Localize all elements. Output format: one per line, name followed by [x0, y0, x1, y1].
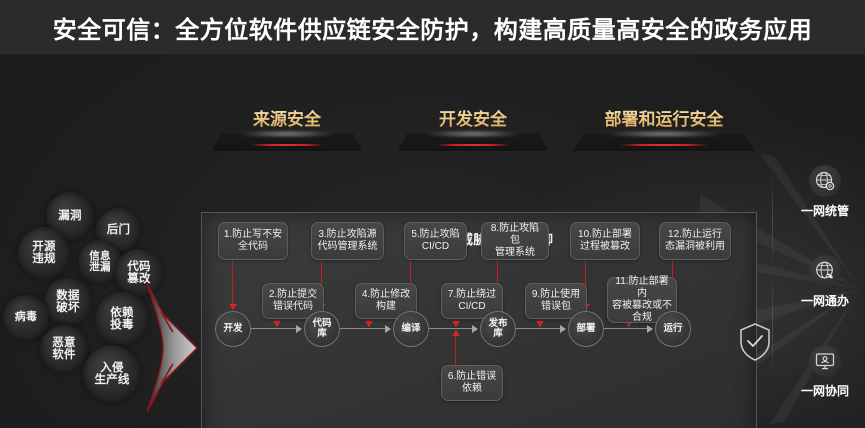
globe-gear-icon — [809, 165, 841, 197]
pipeline-node-label: 开发 — [223, 324, 242, 334]
pipeline-node[interactable]: 编译 — [393, 311, 429, 347]
shield-check-icon — [738, 322, 772, 362]
rail-item-3[interactable]: 一网协同 — [780, 345, 865, 399]
pipeline-node-label: 部署 — [576, 324, 595, 334]
pipeline-connector — [604, 328, 648, 329]
threat-bubble-label: 漏洞 — [58, 210, 81, 222]
connector-arrowhead — [536, 321, 544, 327]
rail-item-label: 一网协同 — [780, 382, 865, 399]
rail-item-label: 一网统管 — [780, 202, 865, 219]
page-title: 安全可信：全方位软件供应链安全防护，构建高质量高安全的政务应用 — [53, 10, 813, 45]
threat-bubble: 开源违规 — [18, 227, 70, 279]
slide-stage: 漏洞后门开源违规信息泄漏代码篡改数据破坏依赖投毒病毒恶意软件入侵生产线 来源安全… — [0, 54, 865, 428]
threat-bubble: 恶意软件 — [40, 325, 88, 373]
pipeline-node[interactable]: 开发 — [215, 311, 251, 347]
threat-card: 1.防止写不安全代码 — [218, 222, 288, 260]
threat-bubble-label: 开源违规 — [32, 241, 55, 266]
connector-arrowhead — [452, 330, 460, 336]
banner-glow — [239, 130, 335, 138]
banner-accent-rule — [251, 144, 323, 146]
pipeline-node-label: 编译 — [401, 324, 420, 334]
pipeline-node[interactable]: 发布库 — [480, 311, 516, 347]
connector-arrowhead — [273, 321, 281, 327]
rail-item-2[interactable]: 一网通办 — [780, 255, 865, 309]
pipeline-node[interactable]: 运行 — [655, 311, 691, 347]
threat-bubble-label: 数据破坏 — [56, 290, 79, 315]
section-banner-label: 来源安全 — [212, 105, 362, 130]
threat-card-label: 1.防止写不安全代码 — [224, 229, 282, 253]
threat-card: 5.防止攻陷CI/CD — [404, 222, 467, 260]
section-banner: 部署和运行安全 — [573, 105, 755, 151]
pipeline-arrowhead — [385, 325, 391, 333]
threat-card-label: 4.防止修改构建 — [362, 289, 410, 313]
threat-card-label: 5.防止攻陷CI/CD — [411, 229, 459, 253]
banner-accent-rule — [437, 144, 509, 146]
threat-card-label: 12.防止运行态漏洞被利用 — [665, 229, 725, 253]
threat-card-label: 3.防止攻陷源代码管理系统 — [318, 229, 378, 253]
threat-card-label: 2.防止提交错误代码 — [269, 289, 317, 313]
pipeline-arrowhead — [647, 325, 653, 333]
pipeline-node[interactable]: 代码库 — [304, 311, 340, 347]
threat-card-label: 9.防止使用错误包 — [532, 289, 580, 313]
card-connector — [232, 260, 233, 310]
threat-bubble-label: 入侵生产线 — [94, 362, 129, 387]
threat-card-label: 8.防止攻陷包管理系统 — [486, 223, 544, 260]
pipeline-connector — [340, 328, 386, 329]
threat-card: 6.防止错误依赖 — [441, 365, 503, 401]
threat-card: 8.防止攻陷包管理系统 — [481, 222, 549, 260]
section-banner: 开发安全 — [398, 105, 548, 151]
flow-arrow-icon — [143, 282, 199, 414]
pipeline-connector — [516, 328, 561, 329]
threat-card-label: 10.防止部署过程被篡改 — [578, 229, 632, 253]
threat-bubble: 依赖投毒 — [95, 292, 149, 346]
pipeline-node-label: 代码库 — [312, 319, 331, 339]
rail-divider-mid — [772, 269, 773, 379]
rail-divider-top — [772, 172, 773, 272]
threat-bubble-label: 病毒 — [15, 312, 37, 324]
threat-bubble-label: 信息泄漏 — [89, 251, 110, 274]
connector-arrowhead — [365, 321, 373, 327]
threat-card: 3.防止攻陷源代码管理系统 — [311, 222, 384, 260]
section-banner-label: 开发安全 — [398, 105, 548, 130]
pipeline-arrowhead — [560, 325, 566, 333]
threat-card-label: 7.防止绕过CI/CD — [448, 289, 496, 313]
globe-arrow-icon — [809, 255, 841, 287]
threat-card-label: 6.防止错误依赖 — [448, 371, 496, 395]
pipeline-node-label: 运行 — [663, 324, 682, 334]
threat-bubble-label: 恶意软件 — [52, 337, 75, 362]
pipeline-connector — [429, 328, 473, 329]
pipeline-arrowhead — [472, 325, 478, 333]
section-banner-label: 部署和运行安全 — [573, 105, 755, 130]
slide-header: 安全可信：全方位软件供应链安全防护，构建高质量高安全的政务应用 — [0, 0, 865, 54]
monitor-share-icon — [809, 345, 841, 377]
threat-bubble: 数据破坏 — [44, 278, 92, 326]
banner-glow — [425, 130, 521, 138]
section-banner: 来源安全 — [212, 105, 362, 151]
slide-root: 安全可信：全方位软件供应链安全防护，构建高质量高安全的政务应用 漏洞后门开源违规… — [0, 0, 865, 428]
rail-item-1[interactable]: 一网统管 — [780, 165, 865, 219]
threat-bubble-label: 后门 — [107, 224, 130, 236]
pipeline-node-label: 发布库 — [488, 319, 507, 339]
connector-arrowhead — [452, 321, 460, 327]
banner-glow — [606, 130, 722, 138]
threat-bubble: 入侵生产线 — [83, 345, 141, 403]
threat-bubble-label: 依赖投毒 — [110, 307, 133, 332]
rail-item-label: 一网通办 — [780, 292, 865, 309]
pipeline-connector — [251, 328, 297, 329]
pipeline-node[interactable]: 部署 — [568, 311, 604, 347]
threat-card: 10.防止部署过程被篡改 — [570, 222, 640, 260]
banner-accent-rule — [620, 144, 707, 146]
threat-card: 12.防止运行态漏洞被利用 — [659, 222, 731, 260]
pipeline-arrowhead — [296, 325, 302, 333]
threat-bubble: 病毒 — [3, 295, 49, 341]
connector-arrowhead — [229, 304, 237, 310]
